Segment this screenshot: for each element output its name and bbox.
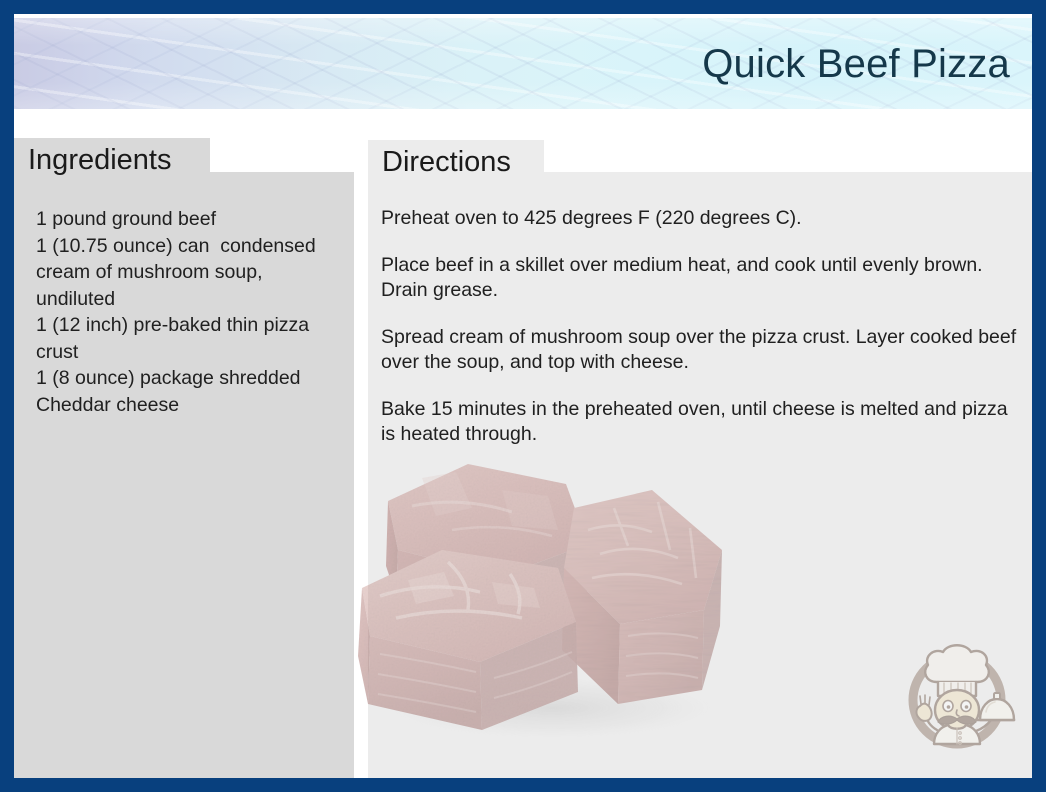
directions-heading-tab: Directions bbox=[368, 140, 544, 184]
recipe-title: Quick Beef Pizza bbox=[702, 44, 1010, 84]
directions-step: Bake 15 minutes in the preheated oven, u… bbox=[381, 397, 1021, 447]
directions-step: Place beef in a skillet over medium heat… bbox=[381, 253, 1021, 303]
directions-steps: Preheat oven to 425 degrees F (220 degre… bbox=[381, 206, 1021, 447]
recipe-card: Quick Beef Pizza Ingredients 1 pound gro… bbox=[0, 0, 1046, 792]
title-banner: Quick Beef Pizza bbox=[14, 18, 1032, 109]
directions-step: Preheat oven to 425 degrees F (220 degre… bbox=[381, 206, 1021, 231]
ingredients-heading-tab: Ingredients bbox=[14, 138, 210, 182]
ingredients-list: 1 pound ground beef 1 (10.75 ounce) can … bbox=[36, 206, 348, 418]
ingredients-heading-label: Ingredients bbox=[28, 144, 172, 177]
directions-step: Spread cream of mushroom soup over the p… bbox=[381, 325, 1021, 375]
directions-heading-label: Directions bbox=[382, 146, 511, 179]
